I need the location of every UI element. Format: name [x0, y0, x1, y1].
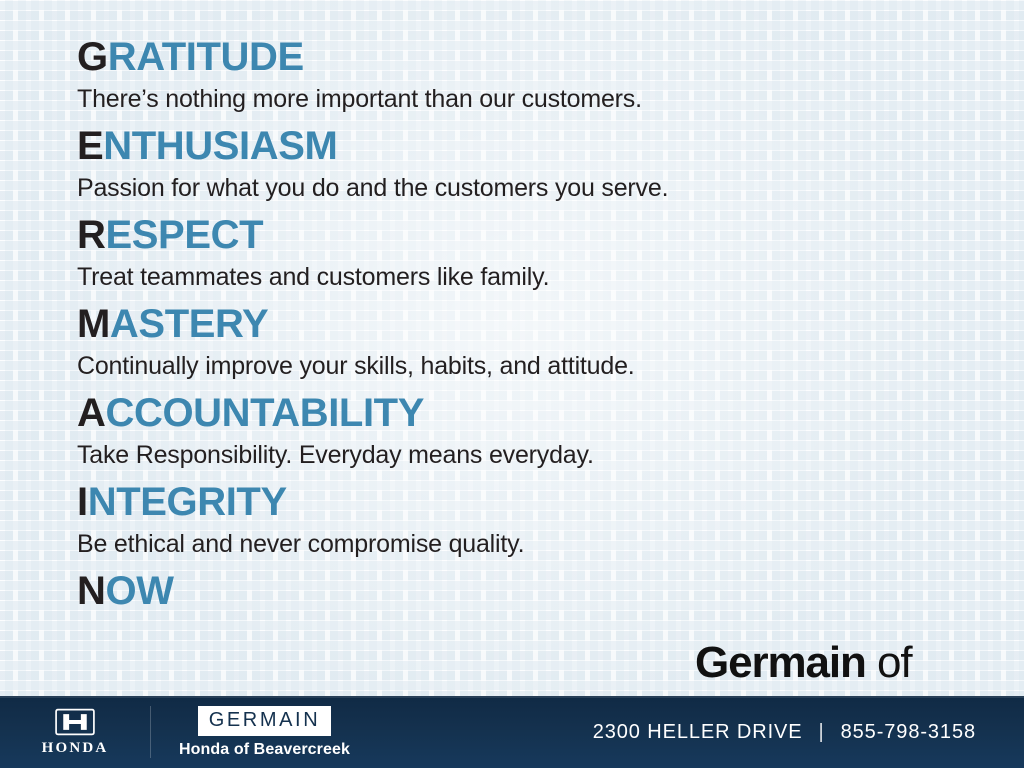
value-description-integrity: Be ethical and never compromise quality.	[77, 527, 1024, 561]
footer-bar: HONDA GERMAIN Honda of Beavercreek 2300 …	[0, 696, 1024, 768]
value-initial: N	[77, 569, 106, 613]
footer-phone[interactable]: 855-798-3158	[841, 721, 976, 744]
value-rest: RATITUDE	[108, 35, 304, 79]
value-initial: M	[77, 302, 110, 346]
value-description-gratitude: There’s nothing more important than our …	[77, 82, 1024, 116]
value-initial: E	[77, 124, 103, 168]
values-list: GRATITUDE There’s nothing more important…	[77, 34, 1024, 621]
footer-contact-info: 2300 HELLER DRIVE | 855-798-3158	[593, 721, 976, 744]
value-heading-accountability: ACCOUNTABILITY	[77, 390, 1024, 436]
value-block-respect: RESPECT Treat teammates and customers li…	[77, 212, 1024, 294]
footer-contact-separator: |	[803, 721, 841, 744]
value-heading-enthusiasm: ENTHUSIASM	[77, 123, 1024, 169]
value-rest: OW	[106, 569, 174, 613]
brand-wordmark-line1: Germain of	[695, 637, 945, 689]
value-description-mastery: Continually improve your skills, habits,…	[77, 349, 1024, 383]
value-rest: ASTERY	[110, 302, 268, 346]
value-rest: CCOUNTABILITY	[106, 391, 424, 435]
brand-wordmark-light: of	[866, 638, 912, 687]
values-poster: GRATITUDE There’s nothing more important…	[0, 0, 1024, 768]
value-description-respect: Treat teammates and customers like famil…	[77, 260, 1024, 294]
value-initial: I	[77, 480, 88, 524]
value-heading-mastery: MASTERY	[77, 301, 1024, 347]
value-rest: NTHUSIASM	[103, 124, 337, 168]
value-block-integrity: INTEGRITY Be ethical and never compromis…	[77, 479, 1024, 561]
value-initial: A	[77, 391, 106, 435]
value-rest: NTEGRITY	[88, 480, 287, 524]
germain-logo-box: GERMAIN	[198, 706, 332, 736]
value-initial: R	[77, 213, 106, 257]
footer-vertical-divider	[150, 706, 151, 758]
brand-wordmark-strong: Germain	[695, 638, 866, 687]
honda-wordmark: HONDA	[42, 740, 109, 757]
value-heading-respect: RESPECT	[77, 212, 1024, 258]
value-initial: G	[77, 35, 108, 79]
footer-address: 2300 HELLER DRIVE	[593, 721, 803, 744]
germain-logo-text: GERMAIN	[209, 709, 321, 731]
value-description-enthusiasm: Passion for what you do and the customer…	[77, 171, 1024, 205]
honda-h-icon	[54, 707, 96, 737]
footer-top-divider	[0, 696, 1024, 698]
value-block-mastery: MASTERY Continually improve your skills,…	[77, 301, 1024, 383]
value-block-accountability: ACCOUNTABILITY Take Responsibility. Ever…	[77, 390, 1024, 472]
value-heading-integrity: INTEGRITY	[77, 479, 1024, 525]
germain-dealer-logo[interactable]: GERMAIN Honda of Beavercreek	[179, 706, 350, 759]
germain-dealer-name: Honda of Beavercreek	[179, 741, 350, 759]
value-description-accountability: Take Responsibility. Everyday means ever…	[77, 438, 1024, 472]
value-heading-now: NOW	[77, 568, 1024, 614]
value-block-gratitude: GRATITUDE There’s nothing more important…	[77, 34, 1024, 116]
value-block-now: NOW	[77, 568, 1024, 614]
honda-logo[interactable]: HONDA	[0, 707, 150, 757]
value-rest: ESPECT	[106, 213, 264, 257]
value-block-enthusiasm: ENTHUSIASM Passion for what you do and t…	[77, 123, 1024, 205]
value-heading-gratitude: GRATITUDE	[77, 34, 1024, 80]
